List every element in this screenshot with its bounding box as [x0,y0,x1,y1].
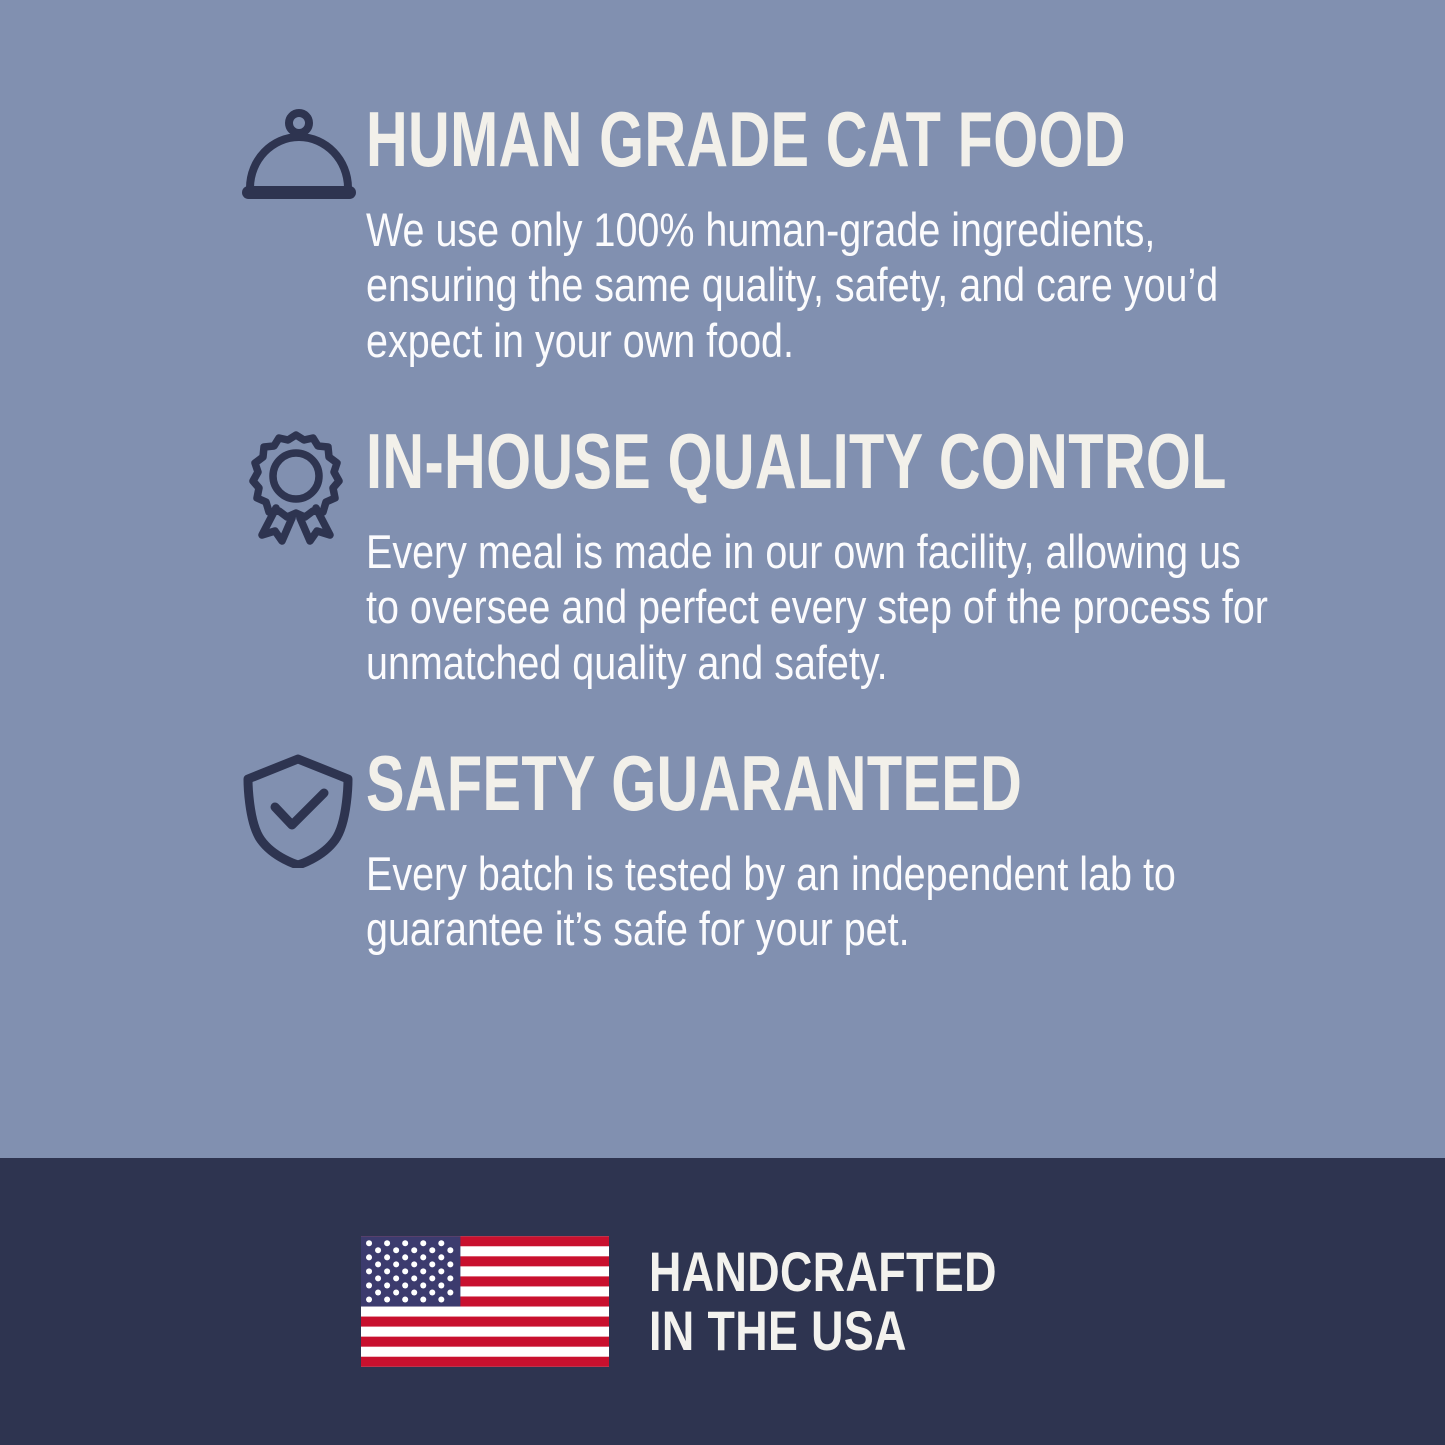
footer-line-1: HANDCRAFTED [649,1243,997,1301]
feature-item-human-grade: HUMAN GRADE CAT FOOD We use only 100% hu… [0,104,1445,368]
footer-content: HANDCRAFTED IN THE USA [361,1236,1084,1367]
shield-check-icon [240,748,366,858]
footer-band: HANDCRAFTED IN THE USA [0,1158,1445,1445]
feature-description: Every meal is made in our own facility, … [366,524,1282,690]
feature-title: IN-HOUSE QUALITY CONTROL [366,426,1227,498]
footer-line-2: IN THE USA [649,1302,997,1360]
feature-title: SAFETY GUARANTEED [366,748,1164,820]
feature-body: HUMAN GRADE CAT FOOD We use only 100% hu… [366,104,1445,368]
features-panel: HUMAN GRADE CAT FOOD We use only 100% hu… [0,0,1445,1158]
cloche-dome-icon [240,104,366,214]
feature-description: Every batch is tested by an independent … [366,846,1272,957]
award-ribbon-icon [240,426,366,536]
infographic-page: HUMAN GRADE CAT FOOD We use only 100% hu… [0,0,1445,1445]
feature-title: HUMAN GRADE CAT FOOD [366,104,1164,176]
feature-body: SAFETY GUARANTEED Every batch is tested … [366,748,1445,957]
usa-flag-icon [361,1236,609,1367]
feature-item-quality-control: IN-HOUSE QUALITY CONTROL Every meal is m… [0,426,1445,690]
feature-description: We use only 100% human-grade ingredients… [366,202,1272,368]
feature-item-safety-guaranteed: SAFETY GUARANTEED Every batch is tested … [0,748,1445,957]
feature-body: IN-HOUSE QUALITY CONTROL Every meal is m… [366,426,1445,690]
handcrafted-usa-label: HANDCRAFTED IN THE USA [649,1243,997,1359]
